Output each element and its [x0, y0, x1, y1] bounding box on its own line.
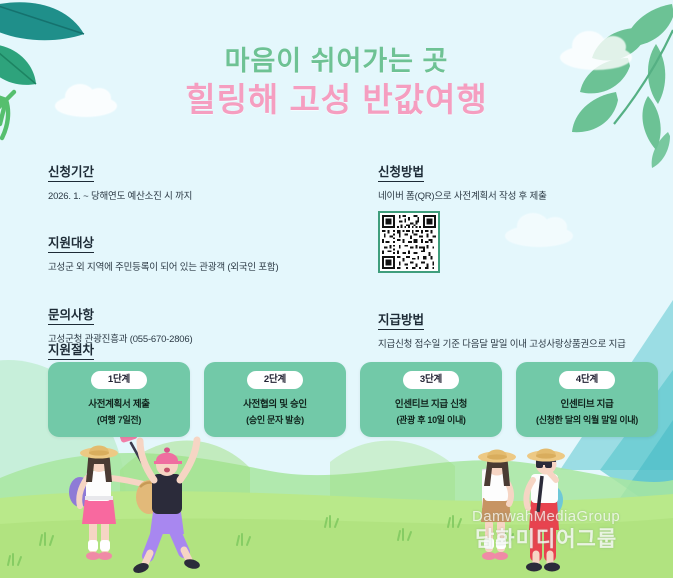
steps-heading: 지원절차: [48, 343, 94, 360]
section-eligibility: 지원대상 고성군 외 지역에 주민등록이 되어 있는 관광객 (외국인 포함): [48, 234, 348, 275]
section-heading: 신청방법: [378, 165, 424, 182]
step-card-2: 2단계 사전협의 및 승인 (승인 문자 발송): [204, 362, 346, 437]
illustration-tourists-right: [478, 449, 565, 572]
step-detail: (여행 7일전): [97, 413, 141, 426]
step-title: 사전계획서 제출: [88, 396, 149, 410]
qr-code[interactable]: [378, 211, 440, 273]
section-body: 지급신청 접수일 기준 다음달 말일 이내 고성사랑상품권으로 지급: [378, 338, 663, 352]
info-column-right: 신청방법 네이버 폼(QR)으로 사전계획서 작성 후 제출: [378, 163, 663, 356]
section-application-method: 신청방법 네이버 폼(QR)으로 사전계획서 작성 후 제출: [378, 163, 663, 273]
section-body: 고성군 외 지역에 주민등록이 되어 있는 관광객 (외국인 포함): [48, 261, 348, 275]
watermark-korean: 담화미디어그룹: [472, 523, 620, 553]
section-heading: 지원대상: [48, 236, 94, 253]
step-title: 인센티브 지급 신청: [395, 396, 467, 410]
info-column-left: 신청기간 2026. 1. ~ 당해연도 예산소진 시 까지 지원대상 고성군 …: [48, 163, 348, 350]
step-card-3: 3단계 인센티브 지급 신청 (관광 후 10일 이내): [360, 362, 502, 437]
step-detail: (관광 후 10일 이내): [396, 413, 465, 426]
headline-subtitle: 마음이 쉬어가는 곳: [0, 46, 673, 77]
watermark: DamwahMediaGroup 담화미디어그룹: [472, 508, 620, 553]
watermark-english: DamwahMediaGroup: [472, 508, 620, 525]
step-card-1: 1단계 사전계획서 제출 (여행 7일전): [48, 362, 190, 437]
section-application-period: 신청기간 2026. 1. ~ 당해연도 예산소진 시 까지: [48, 163, 348, 204]
headline-title: 힐링해 고성 반값여행: [0, 79, 673, 120]
step-badge: 4단계: [559, 371, 615, 389]
section-heading: 신청기간: [48, 165, 94, 182]
section-heading: 지급방법: [378, 313, 424, 330]
poster-headline: 마음이 쉬어가는 곳 힐링해 고성 반값여행: [0, 46, 673, 120]
step-badge: 3단계: [403, 371, 459, 389]
section-heading: 문의사항: [48, 308, 94, 325]
steps-list: 1단계 사전계획서 제출 (여행 7일전) 2단계 사전협의 및 승인 (승인 …: [48, 362, 658, 437]
step-badge: 1단계: [91, 371, 147, 389]
section-body: 네이버 폼(QR)으로 사전계획서 작성 후 제출: [378, 190, 663, 204]
step-detail: (신청한 달의 익월 말일 이내): [536, 413, 638, 426]
step-detail: (승인 문자 발송): [246, 413, 304, 426]
step-card-4: 4단계 인센티브 지급 (신청한 달의 익월 말일 이내): [516, 362, 658, 437]
section-payment-method: 지급방법 지급신청 접수일 기준 다음달 말일 이내 고성사랑상품권으로 지급: [378, 311, 663, 352]
steps-heading-wrap: 지원절차: [48, 341, 94, 360]
step-title: 인센티브 지급: [561, 396, 614, 410]
step-title: 사전협의 및 승인: [243, 396, 307, 410]
section-body: 2026. 1. ~ 당해연도 예산소진 시 까지: [48, 190, 348, 204]
info-sections: 신청기간 2026. 1. ~ 당해연도 예산소진 시 까지 지원대상 고성군 …: [0, 163, 673, 328]
poster-root: 마음이 쉬어가는 곳 힐링해 고성 반값여행 신청기간 2026. 1. ~ 당…: [0, 0, 673, 578]
illustration-hikers-left: [69, 429, 201, 574]
step-badge: 2단계: [247, 371, 303, 389]
